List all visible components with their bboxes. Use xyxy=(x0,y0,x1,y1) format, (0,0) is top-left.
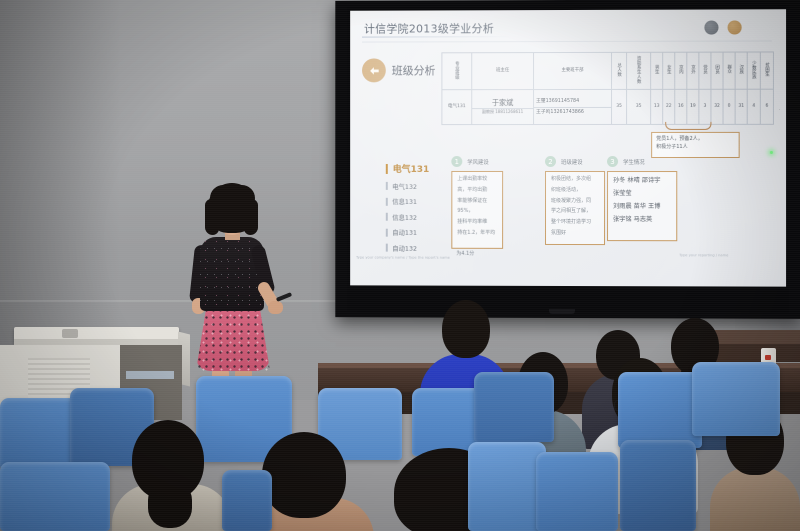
class-list-item-3[interactable]: 信息132 xyxy=(386,212,448,221)
cell-minority: 4 xyxy=(747,89,760,124)
presenter-hair-left xyxy=(205,199,219,235)
teacher-name: 于家斌 xyxy=(472,98,533,109)
panel-line: 氛围好 xyxy=(551,230,599,238)
th-masses: 群众 xyxy=(723,52,735,89)
panel-line: 整个环境打造学习 xyxy=(551,219,599,227)
class-marker-icon xyxy=(386,163,388,173)
cup-logo-icon xyxy=(765,355,771,360)
cell-male: 13 xyxy=(651,89,663,124)
panel-body: 孙冬 林晴 邵诗宇 张莹莹 刘雨晨 苗华 王博 张宇铭 马志英 xyxy=(607,171,677,241)
cell-masses: 0 xyxy=(723,89,735,124)
teacher-title-phone: 副教授 18811268611 xyxy=(472,109,533,116)
slide-footer-right: Type your reporting / name xyxy=(679,253,728,257)
student-name-line: 张莹莹 xyxy=(613,189,671,199)
screen-pull-tab xyxy=(549,309,575,314)
class-marker-icon xyxy=(386,228,387,236)
header-divider xyxy=(362,40,772,42)
person-torso xyxy=(710,467,800,531)
panel-number-icon: 1 xyxy=(451,156,462,167)
cell-aided: 35 xyxy=(627,89,651,124)
title-underline xyxy=(362,36,511,37)
panel-title: 班级建设 xyxy=(561,157,583,165)
seat xyxy=(474,372,554,442)
person-head xyxy=(262,432,346,518)
seat xyxy=(222,470,272,531)
decor-dot-gray-icon xyxy=(704,21,718,35)
presentation-slide: 计信学院2013级学业分析 班级分析 xyxy=(350,9,786,288)
class-list-item-5[interactable]: 自动132 xyxy=(386,243,448,252)
cell-total: 35 xyxy=(612,89,627,124)
class-marker-icon xyxy=(386,244,387,252)
slide-title: 计信学院2013级学业分析 xyxy=(364,20,494,36)
panel-number-icon: 3 xyxy=(607,156,618,167)
presenter-hair-right xyxy=(244,199,258,235)
cell-class: 电气131 xyxy=(442,90,472,125)
slide-section-label: 班级分析 xyxy=(392,62,436,78)
panel-academic-style: 1 学风建设 上课出勤率较 高，平均出勤 率能够保证在 95%， 挂科平均率维 … xyxy=(451,156,503,257)
th-in-beijing: 京内 xyxy=(675,52,687,89)
seat xyxy=(0,462,110,531)
panel-body: 上课出勤率较 高，平均出勤 率能够保证在 95%， 挂科平均率维 持在1.2，年… xyxy=(451,171,503,249)
student-name-line: 张宇铭 马志英 xyxy=(613,215,671,225)
panel-line: 95%， xyxy=(457,208,497,216)
panel-line: 高，平均出勤 xyxy=(457,187,497,195)
class-analysis-table: 专业班级 班主任 主要班干部 总人数 资助系生人数 男生 女生 京内 京外 党员… xyxy=(441,51,774,125)
panel-line: 挂科平均率维 xyxy=(457,219,497,227)
audience-person-front-left xyxy=(112,420,232,531)
panel-line: 率能够保证在 xyxy=(457,197,497,205)
th-homeroom-teacher: 班主任 xyxy=(472,53,534,90)
th-aided: 资助系生人数 xyxy=(627,52,651,89)
panel-line: 学之间相互了解， xyxy=(551,208,599,216)
panel-line: 班级凝聚力强，同 xyxy=(551,197,599,205)
presenter-hand-right xyxy=(268,301,283,314)
th-han: 汉族 xyxy=(735,52,747,89)
decor-dot-gold-icon xyxy=(728,20,742,34)
slide-footer-left: Type your company's name / Type the repo… xyxy=(356,256,450,262)
th-party: 党员 xyxy=(699,52,711,89)
th-minority: 少数民族 xyxy=(747,52,760,89)
table-row: 电气131 于家斌 副教授 18811268611 王璽13691145784 … xyxy=(442,89,774,124)
class-list-item-4[interactable]: 自动131 xyxy=(386,228,448,237)
th-total: 总人数 xyxy=(612,52,627,89)
lectern-equipment-panel xyxy=(126,371,174,379)
th-major-class: 专业班级 xyxy=(442,53,472,90)
lectern-cable-port xyxy=(62,329,78,338)
panel-class-building: 2 班级建设 积极团结，多次组 织班级活动， 班级凝聚力强，同 学之间相互了解，… xyxy=(545,156,605,245)
person-head xyxy=(442,300,490,358)
cell-cadres: 王璽13691145784 王子鸣13261743866 xyxy=(534,89,612,124)
class-list-item-0[interactable]: 电气131 xyxy=(386,162,448,175)
note-line-1: 党员1人，预备2人， xyxy=(656,136,734,144)
annotation-brace xyxy=(665,122,711,130)
annotation-note: 党员1人，预备2人， 积极分子11人 xyxy=(651,132,740,158)
cell-out-beijing: 19 xyxy=(687,89,699,124)
lecture-hall-photo: 计信学院2013级学业分析 班级分析 xyxy=(0,0,800,531)
presenter-bangs xyxy=(210,185,255,203)
class-list-item-2[interactable]: 信息131 xyxy=(386,197,448,206)
cadre-2: 王子鸣13261743866 xyxy=(534,107,611,117)
presentation-clicker xyxy=(276,292,292,302)
class-marker-icon xyxy=(386,182,387,190)
student-name-line-highlight: 刘雨晨 苗华 王博 xyxy=(613,202,671,212)
panel-number-icon: 2 xyxy=(545,156,556,167)
panel-line-overflow: 为4.1分 xyxy=(456,250,503,257)
panel-line: 积极团结，多次组 xyxy=(551,176,599,184)
class-list: 电气131 电气132 信息131 信息132 xyxy=(386,162,448,259)
person-hair-bun xyxy=(148,480,192,528)
panel-line: 织班级活动， xyxy=(551,187,599,195)
seat xyxy=(536,452,618,531)
th-female: 女生 xyxy=(663,52,675,89)
projection-screen-frame: 计信学院2013级学业分析 班级分析 xyxy=(335,0,800,319)
th-class-cadres: 主要班干部 xyxy=(534,52,612,89)
note-line-2: 积极分子11人 xyxy=(656,143,734,151)
th-male: 男生 xyxy=(651,52,663,89)
cell-party: 3 xyxy=(699,89,711,124)
seat xyxy=(618,372,702,448)
seat xyxy=(692,362,780,436)
th-poor: 贫困生 xyxy=(760,52,773,89)
cell-teacher: 于家斌 副教授 18811268611 xyxy=(472,90,534,125)
table-header-row: 专业班级 班主任 主要班干部 总人数 资助系生人数 男生 女生 京内 京外 党员… xyxy=(442,52,774,90)
class-marker-icon xyxy=(386,213,387,221)
cadre-1: 王璽13691145784 xyxy=(534,97,611,108)
presenter-skirt-pattern xyxy=(196,307,270,371)
panel-title: 学生情况 xyxy=(623,157,645,165)
th-out-beijing: 京外 xyxy=(687,52,699,89)
class-list-item-1[interactable]: 电气132 xyxy=(386,181,448,190)
cell-league: 32 xyxy=(711,89,723,124)
seat xyxy=(620,440,696,531)
panel-line: 持在1.2，年平均 xyxy=(457,230,497,238)
panel-title: 学风建设 xyxy=(467,158,488,166)
th-league: 团员 xyxy=(711,52,723,89)
cell-poor: 6 xyxy=(760,89,773,124)
class-marker-icon xyxy=(386,197,387,205)
panel-line: 上课出勤率较 xyxy=(457,176,497,184)
cell-female: 22 xyxy=(663,89,675,124)
seat xyxy=(468,442,546,531)
back-arrow-icon xyxy=(362,58,386,82)
projection-screen-surface: 计信学院2013级学业分析 班级分析 xyxy=(347,5,789,307)
laser-pointer-dot-icon xyxy=(770,151,773,154)
cell-han: 31 xyxy=(735,89,747,124)
cell-in-beijing: 16 xyxy=(675,89,687,124)
seat xyxy=(0,398,78,470)
panel-body: 积极团结，多次组 织班级活动， 班级凝聚力强，同 学之间相互了解， 整个环境打造… xyxy=(545,171,605,245)
student-name-line: 孙冬 林晴 邵诗宇 xyxy=(613,176,671,186)
panel-student-status: 3 学生情况 孙冬 林晴 邵诗宇 张莹莹 刘雨晨 苗华 王博 张宇铭 马志英 xyxy=(607,156,677,241)
